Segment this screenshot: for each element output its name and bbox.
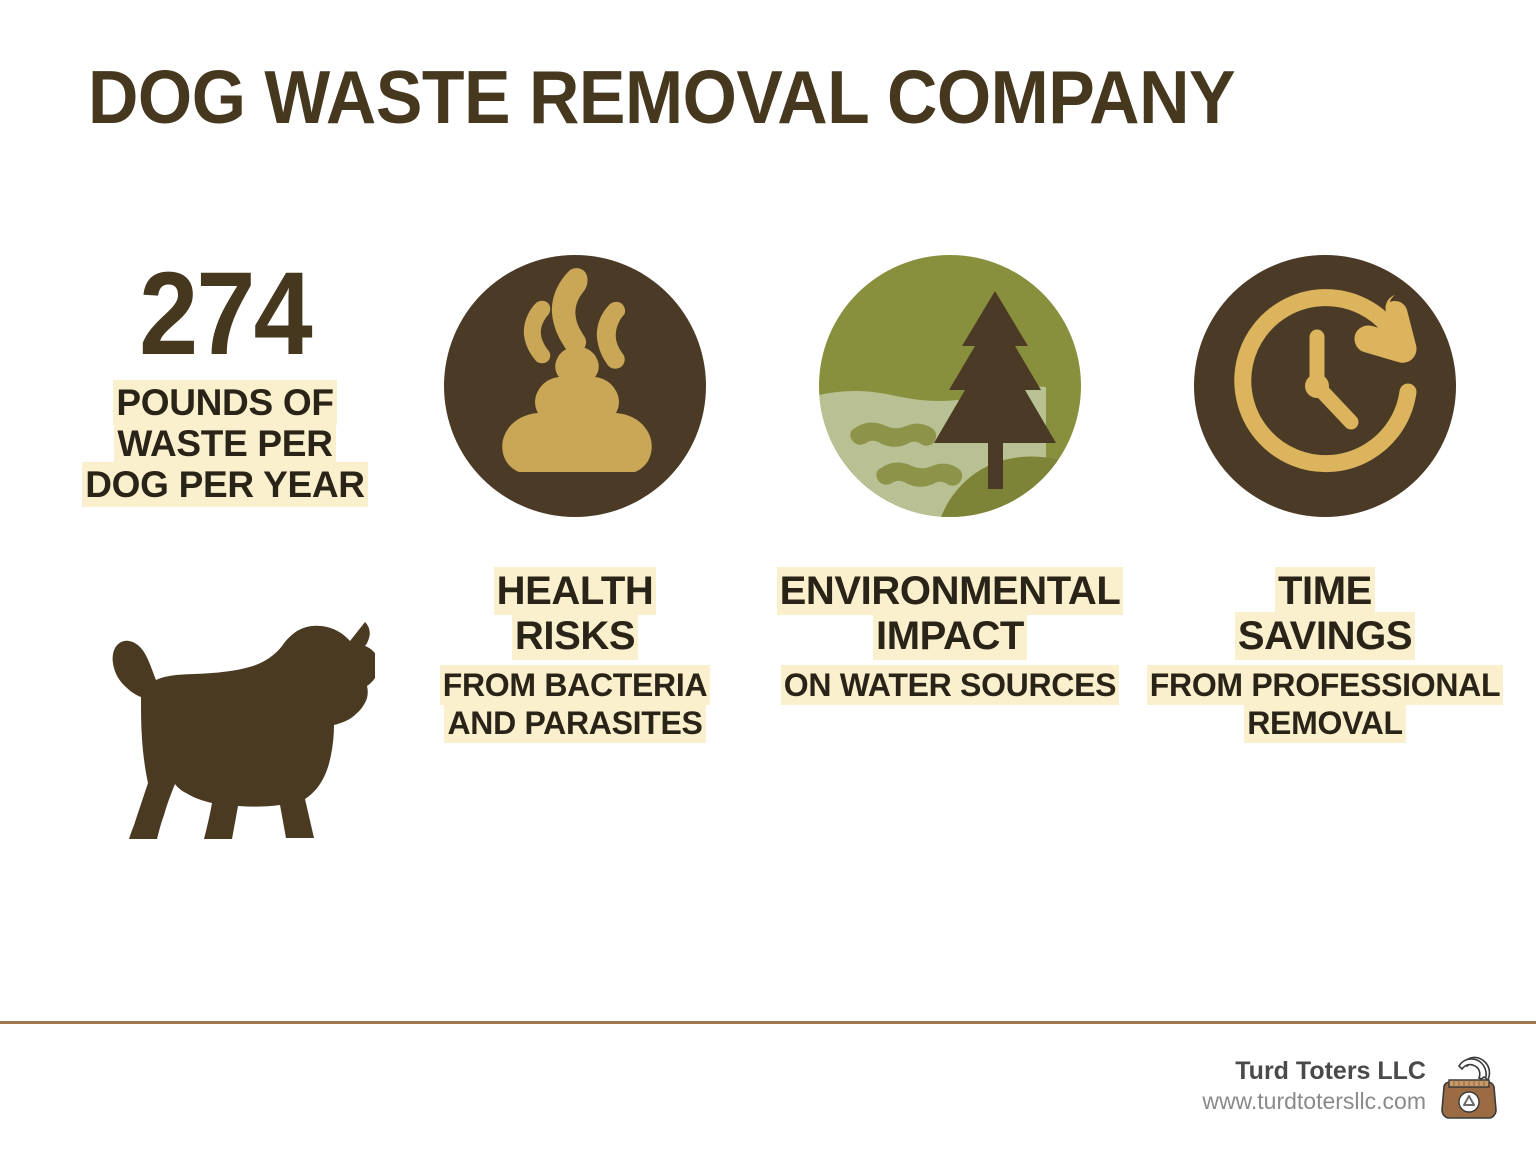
feature-title: HEALTH RISKS: [496, 569, 655, 659]
feature-sub-line-2: AND PARASITES: [446, 705, 703, 741]
feature-sub-line-1: FROM BACTERIA: [442, 667, 709, 703]
company-name: Turd Toters LLC: [1202, 1056, 1426, 1086]
feature-title-line-1: ENVIRONMENTAL: [779, 569, 1122, 613]
tree-and-water-icon: [819, 255, 1081, 517]
stat-caption-line-1: POUNDS OF: [115, 382, 334, 423]
feature-sub-line-2: REMOVAL: [1246, 705, 1404, 741]
infographic-poster: DOG WASTE REMOVAL COMPANY 274 POUNDS OF …: [0, 0, 1536, 1154]
feature-title: TIME SAVINGS: [1237, 569, 1413, 659]
stat-block: 274 POUNDS OF WASTE PER DOG PER YEAR: [60, 258, 390, 505]
feature-time-savings: TIME SAVINGS FROM PROFESSIONAL REMOVAL: [1140, 255, 1510, 742]
footer-divider: [0, 1021, 1536, 1024]
page-title: DOG WASTE REMOVAL COMPANY: [88, 57, 1353, 137]
feature-sub-line-1: ON WATER SOURCES: [783, 667, 1117, 703]
feature-title-line-2: SAVINGS: [1237, 614, 1413, 658]
feature-subtitle: FROM BACTERIA AND PARASITES: [442, 666, 709, 742]
stat-number: 274: [77, 258, 374, 370]
stat-caption-line-3: DOG PER YEAR: [84, 464, 365, 505]
feature-sub-line-1: FROM PROFESSIONAL: [1149, 667, 1501, 703]
feature-title-line-1: TIME: [1277, 569, 1373, 613]
steaming-poop-icon: [444, 255, 706, 517]
stat-caption: POUNDS OF WASTE PER DOG PER YEAR: [60, 382, 390, 505]
feature-subtitle: FROM PROFESSIONAL REMOVAL: [1149, 666, 1501, 742]
feature-environmental-impact: ENVIRONMENTAL IMPACT ON WATER SOURCES: [765, 255, 1135, 704]
footer: Turd Toters LLC www.turdtotersllc.com: [1202, 1052, 1498, 1120]
dog-silhouette-icon: [45, 595, 375, 860]
company-website[interactable]: www.turdtotersllc.com: [1202, 1086, 1426, 1116]
stat-caption-line-2: WASTE PER: [116, 423, 333, 464]
feature-title-line-2: IMPACT: [875, 614, 1025, 658]
feature-subtitle: ON WATER SOURCES: [783, 666, 1117, 704]
feature-health-risks: HEALTH RISKS FROM BACTERIA AND PARASITES: [390, 255, 760, 742]
feature-columns: HEALTH RISKS FROM BACTERIA AND PARASITES: [390, 255, 1510, 742]
footer-text: Turd Toters LLC www.turdtotersllc.com: [1202, 1056, 1426, 1116]
feature-title-line-2: RISKS: [514, 614, 636, 658]
feature-title-line-1: HEALTH: [496, 569, 655, 613]
clock-arrow-icon: [1194, 255, 1456, 517]
waste-bag-recycle-logo-icon: [1440, 1052, 1498, 1120]
feature-title: ENVIRONMENTAL IMPACT: [779, 569, 1122, 659]
